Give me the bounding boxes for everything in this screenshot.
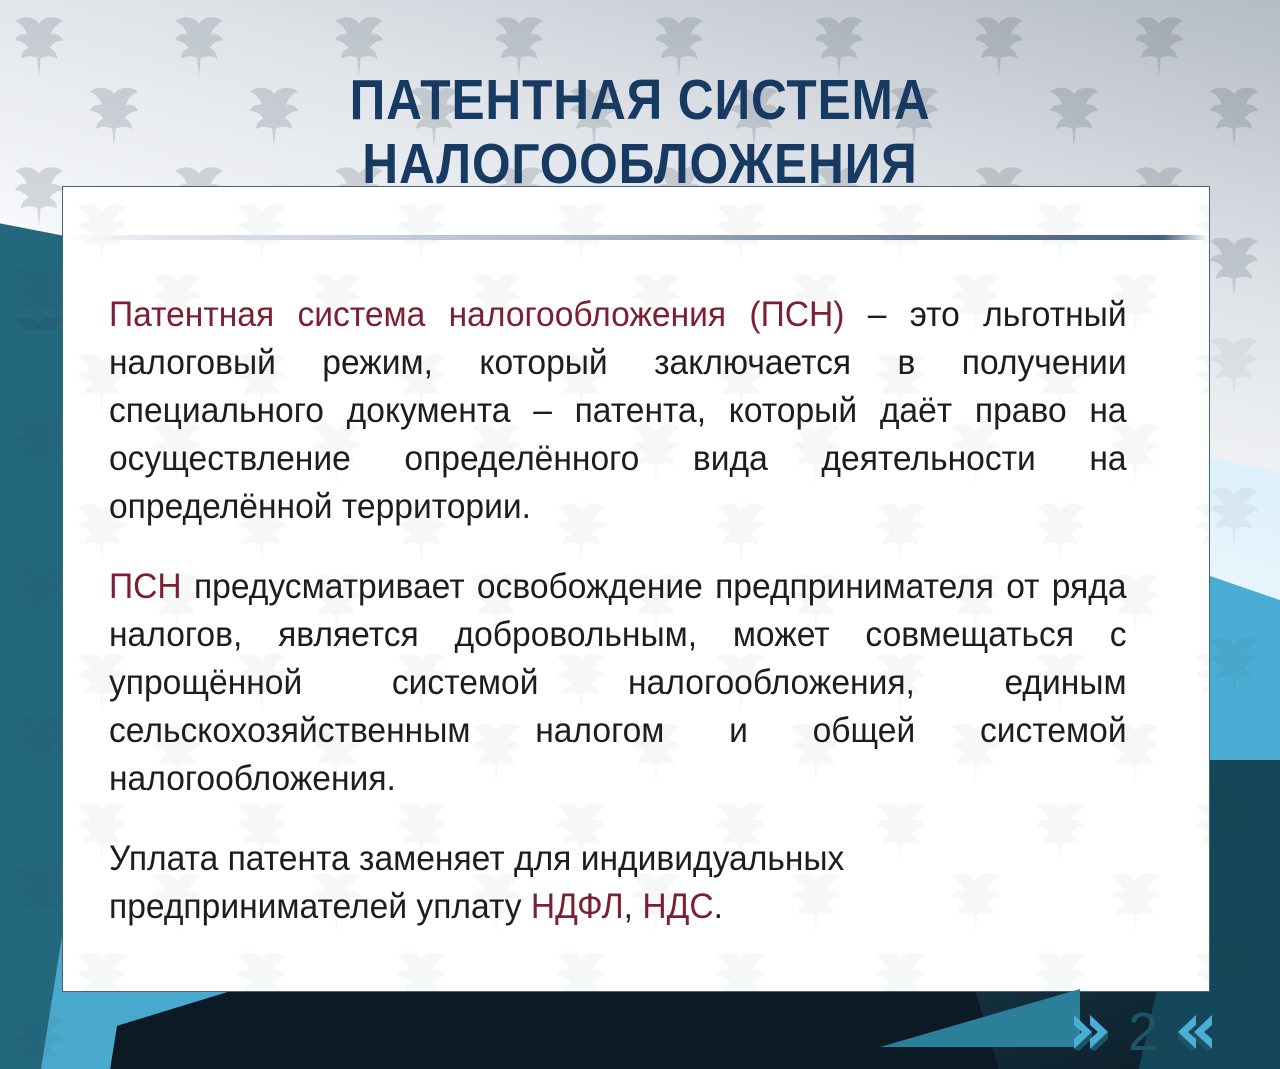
slide-title-line-2: НАЛОГООБЛОЖЕНИЯ [83, 132, 1197, 196]
paragraph-psn-replaces: Уплата патента заменяет для индивидуальн… [109, 835, 1127, 931]
chevron-double-left-icon [1164, 1005, 1218, 1059]
slide-body: Патентная система налогообложения (ПСН) … [109, 291, 1169, 963]
highlighted-term: Патентная система налогообложения (ПСН) [109, 295, 844, 334]
slide-title: ПАТЕНТНАЯ СИСТЕМА НАЛОГООБЛОЖЕНИЯ [83, 68, 1197, 196]
paragraph-psn-exemption: ПСН предусматривает освобождение предпри… [109, 563, 1127, 803]
content-card: Патентная система налогообложения (ПСН) … [62, 186, 1210, 992]
highlighted-term: ПСН [109, 567, 182, 606]
page-indicator: 2 [1068, 1005, 1218, 1059]
text-run: . [714, 887, 723, 926]
highlighted-term: НДС [642, 887, 713, 926]
title-divider [63, 235, 1209, 240]
page-number: 2 [1128, 1005, 1158, 1059]
presentation-slide: ПАТЕНТНАЯ СИСТЕМА НАЛОГООБЛОЖЕНИЯ Патент… [0, 0, 1280, 1069]
highlighted-term: НДФЛ [531, 887, 624, 926]
text-run: , [624, 887, 643, 926]
text-run: предусматривает освобождение предпринима… [109, 567, 1127, 798]
chevron-double-right-icon [1068, 1005, 1122, 1059]
footer-triangle-accent [880, 989, 1080, 1047]
slide-title-line-1: ПАТЕНТНАЯ СИСТЕМА [83, 68, 1197, 132]
paragraph-psn-definition: Патентная система налогообложения (ПСН) … [109, 291, 1127, 531]
text-run: Уплата патента заменяет для индивидуальн… [109, 839, 844, 926]
